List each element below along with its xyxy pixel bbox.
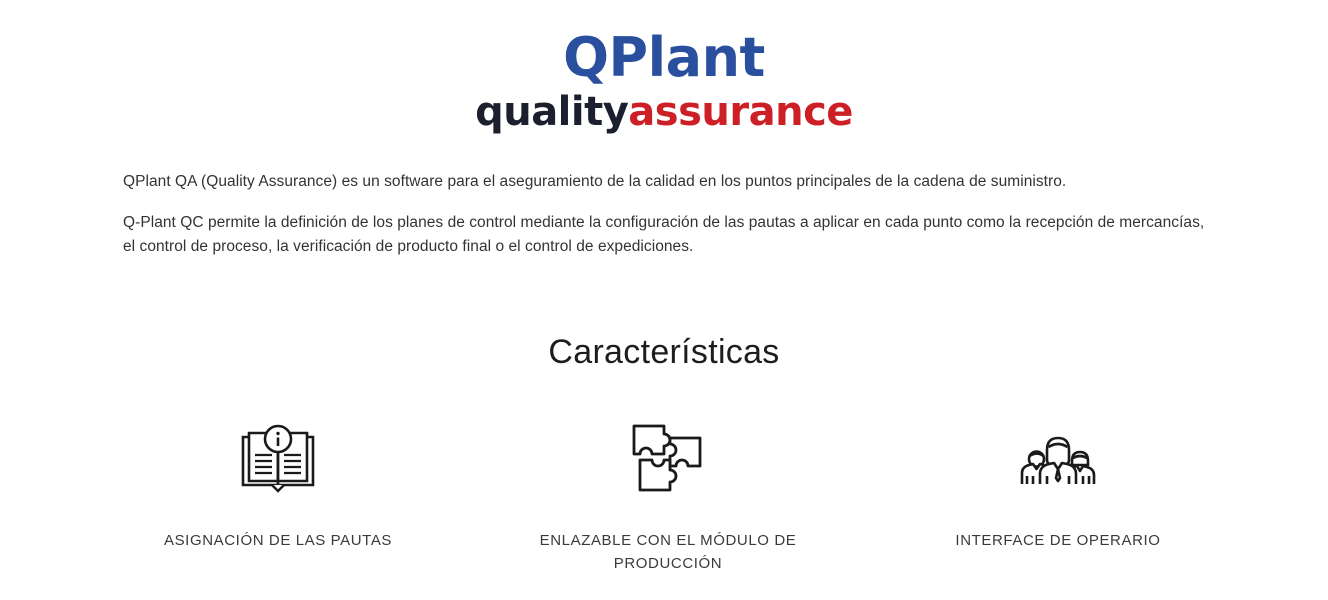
- feature-item-operario: INTERFACE DE OPERARIO: [893, 420, 1223, 575]
- features-section-title: Características: [0, 333, 1328, 372]
- feature-label-operario: INTERFACE DE OPERARIO: [955, 530, 1160, 553]
- brand-logo: QPlant qualityassurance: [0, 0, 1328, 135]
- logo-assurance-text: assurance: [628, 89, 853, 135]
- intro-paragraph-1: QPlant QA (Quality Assurance) es un soft…: [123, 170, 1213, 194]
- feature-label-produccion: ENLAZABLE CON EL MÓDULO DE PRODUCCIÓN: [533, 530, 803, 575]
- open-book-info-icon: [239, 420, 317, 496]
- feature-label-pautas: ASIGNACIÓN DE LAS PAUTAS: [164, 530, 392, 553]
- page-root: QPlant qualityassurance QPlant QA (Quali…: [0, 0, 1328, 575]
- logo-quality-text: quality: [475, 89, 628, 135]
- intro-paragraph-2: Q-Plant QC permite la definición de los …: [123, 211, 1213, 258]
- feature-item-produccion: ENLAZABLE CON EL MÓDULO DE PRODUCCIÓN: [503, 420, 833, 575]
- intro-section: QPlant QA (Quality Assurance) es un soft…: [115, 135, 1213, 259]
- people-group-icon: [1018, 420, 1098, 496]
- logo-tagline: qualityassurance: [0, 89, 1328, 135]
- features-list: ASIGNACIÓN DE LAS PAUTAS ENLAZABLE CON E…: [105, 420, 1223, 575]
- feature-item-pautas: ASIGNACIÓN DE LAS PAUTAS: [113, 420, 443, 575]
- puzzle-pieces-icon: [630, 420, 706, 496]
- logo-qplant-text: QPlant: [0, 30, 1328, 87]
